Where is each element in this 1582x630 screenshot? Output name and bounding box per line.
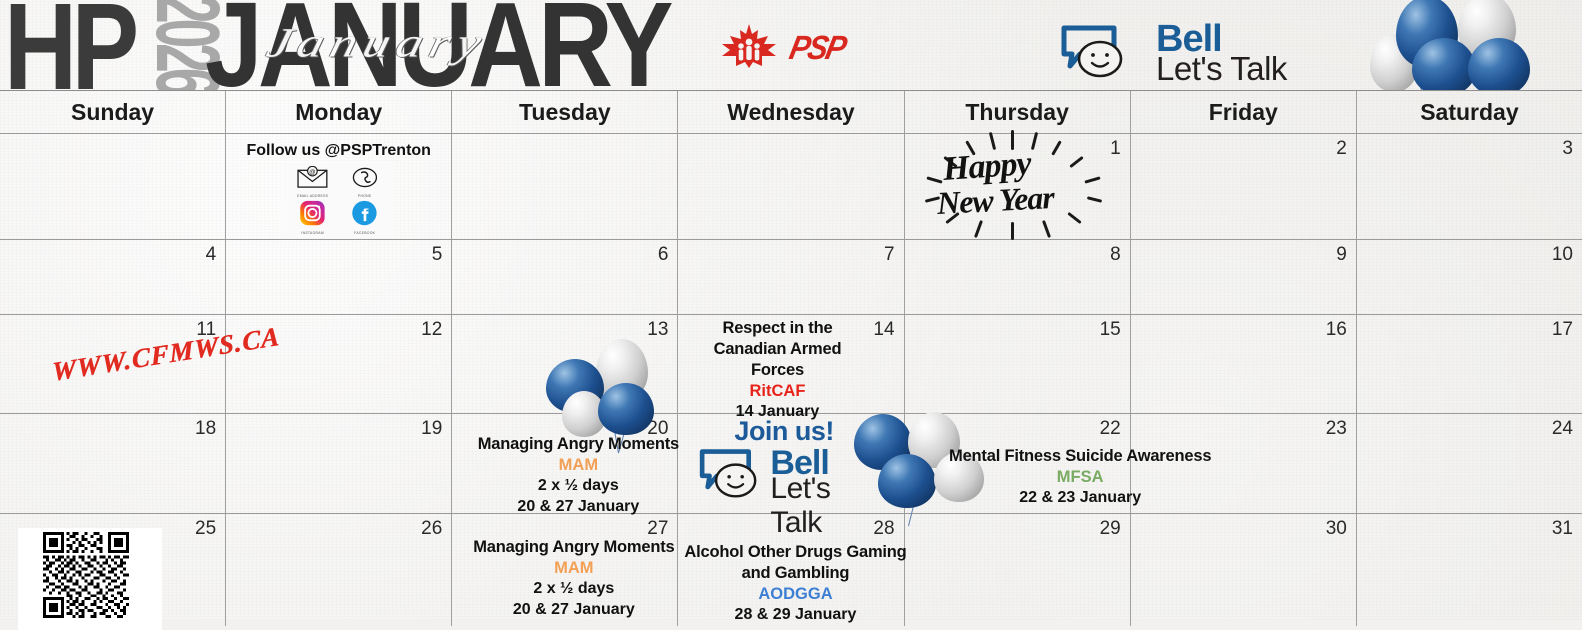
balloon-blue	[878, 454, 936, 508]
day-number: 17	[1552, 319, 1573, 341]
calendar-week-2: 4 5 6 7 8 9 10	[0, 240, 1582, 315]
event-mam-second-dates: 20 & 27 January	[473, 600, 674, 620]
day-cell-1[interactable]: 1 Happy New Year	[905, 134, 1131, 239]
day-cell-10[interactable]: 10	[1357, 240, 1582, 314]
weekday-header-wednesday: Wednesday	[678, 91, 904, 133]
speech-bubble-smiley-icon	[698, 446, 764, 500]
calendar-header: HP 2026 JANUARY January PSP Bell Let's T…	[0, 0, 1582, 90]
day-cell-21[interactable]: 21 Join us! Bell Let's Talk	[678, 414, 904, 513]
day-cell-27[interactable]: 27 Managing Angry Moments MAM 2 x ½ days…	[452, 514, 678, 626]
instagram-icon	[300, 200, 326, 226]
burst-ray	[1011, 222, 1014, 240]
event-ritcaf-code: RitCAF	[714, 381, 842, 402]
day-number: 26	[421, 518, 442, 540]
event-ritcaf-title-line3: Forces	[714, 360, 842, 381]
weekday-header-sunday: Sunday	[0, 91, 226, 133]
event-aodgga-title-line1: Alcohol Other Drugs Gaming	[684, 542, 906, 563]
day-number: 16	[1326, 319, 1347, 341]
day-cell-empty[interactable]	[0, 134, 226, 239]
social-icon-email-caption: EMAIL ADDRESS	[294, 194, 332, 198]
day-cell-31[interactable]: 31	[1357, 514, 1582, 626]
weekday-header-saturday: Saturday	[1357, 91, 1582, 133]
day-number: 14	[873, 319, 894, 341]
day-number: 18	[195, 418, 216, 440]
day-number: 23	[1326, 418, 1347, 440]
day-cell-11[interactable]: 11 WWW.CFMWS.CA	[0, 315, 226, 413]
event-aodgga-title-line2: and Gambling	[684, 563, 906, 584]
day-cell-empty[interactable]	[678, 134, 904, 239]
balloon-blue	[598, 383, 654, 435]
event-mam-second-title: Managing Angry Moments	[473, 537, 674, 558]
event-mam-second-duration: 2 x ½ days	[473, 579, 674, 599]
event-mfsa-title: Mental Fitness Suicide Awareness	[949, 446, 1211, 467]
burst-ray	[1042, 220, 1051, 238]
day-number: 5	[432, 244, 443, 266]
day-cell-empty[interactable]	[452, 134, 678, 239]
happy-new-year-graphic: Happy New Year	[895, 128, 1131, 240]
day-number: 25	[195, 518, 216, 540]
day-cell-14[interactable]: 14 Respect in the Canadian Armed Forces …	[678, 315, 904, 413]
social-icon-row-2: INSTAGRAM FACEBOOK	[289, 200, 389, 235]
join-us-label: Join us!	[734, 416, 834, 447]
calendar-week-3: 11 WWW.CFMWS.CA 12 13 14 Respect in the …	[0, 315, 1582, 414]
day-number: 9	[1336, 244, 1347, 266]
social-icon-email[interactable]: @ EMAIL ADDRESS	[294, 166, 332, 198]
event-mam-second-code: MAM	[473, 558, 674, 579]
social-icon-phone-caption: PHONE	[346, 194, 384, 198]
burst-ray	[1030, 132, 1037, 150]
day-cell-3[interactable]: 3	[1357, 134, 1582, 239]
day-number: 10	[1552, 244, 1573, 266]
day-cell-7[interactable]: 7	[678, 240, 904, 314]
day-number: 7	[884, 244, 895, 266]
weekday-header-row: Sunday Monday Tuesday Wednesday Thursday…	[0, 90, 1582, 134]
day-number: 30	[1326, 518, 1347, 540]
psp-logo: PSP	[718, 22, 888, 70]
qr-code-image	[22, 532, 150, 618]
day-number: 6	[658, 244, 669, 266]
event-mfsa-code: MFSA	[949, 467, 1211, 488]
email-icon: @	[297, 166, 329, 189]
day-cell-29[interactable]: 29	[905, 514, 1131, 626]
day-number: 2	[1336, 138, 1347, 160]
day-number: 19	[421, 418, 442, 440]
event-mam-first[interactable]: Managing Angry Moments MAM 2 x ½ days 20…	[478, 434, 679, 517]
day-cell-2[interactable]: 2	[1131, 134, 1357, 239]
follow-us-block: Follow us @PSPTrenton @ EMAIL ADDRESS	[226, 142, 451, 238]
social-icon-row-1: @ EMAIL ADDRESS PHONE	[289, 166, 389, 198]
day-cell-9[interactable]: 9	[1131, 240, 1357, 314]
day-number: 8	[1110, 244, 1121, 266]
event-aodgga[interactable]: Alcohol Other Drugs Gaming and Gambling …	[684, 542, 906, 626]
day-cell-6[interactable]: 6	[452, 240, 678, 314]
event-mam-second[interactable]: Managing Angry Moments MAM 2 x ½ days 20…	[473, 537, 674, 620]
bell-lets-talk-logo-header: Bell Let's Talk	[1060, 18, 1320, 80]
phone-icon	[351, 166, 378, 189]
day-number: 29	[1100, 518, 1121, 540]
header-org-abbrev: HP	[4, 0, 134, 90]
event-mam-first-duration: 2 x ½ days	[478, 476, 679, 496]
svg-text:@: @	[309, 169, 316, 176]
social-icon-facebook[interactable]: FACEBOOK	[346, 200, 384, 235]
social-icon-box: @ EMAIL ADDRESS PHONE	[283, 163, 395, 238]
day-cell-16[interactable]: 16	[1131, 315, 1357, 413]
weekday-header-monday: Monday	[226, 91, 452, 133]
burst-ray	[926, 176, 942, 183]
day-number: 15	[1100, 319, 1121, 341]
event-ritcaf-title-line2: Canadian Armed	[714, 339, 842, 360]
balloon-cluster-header	[1352, 0, 1582, 90]
event-mam-first-title: Managing Angry Moments	[478, 434, 679, 455]
event-aodgga-dates: 28 & 29 January	[684, 605, 906, 625]
social-icon-instagram-caption: INSTAGRAM	[294, 231, 332, 235]
event-ritcaf-title-line1: Respect in the	[714, 318, 842, 339]
event-mfsa-dates: 22 & 23 January	[949, 488, 1211, 508]
day-number: 12	[421, 319, 442, 341]
day-cell-8[interactable]: 8	[905, 240, 1131, 314]
day-cell-13[interactable]: 13	[452, 315, 678, 413]
join-us-bell-block[interactable]: Join us! Bell Let's Talk	[698, 416, 834, 447]
day-cell-18[interactable]: 18	[0, 414, 226, 513]
day-cell-5[interactable]: 5	[226, 240, 452, 314]
day-cell-25[interactable]: 25	[0, 514, 226, 626]
event-mam-first-dates: 20 & 27 January	[478, 497, 679, 517]
balloon-cluster-mid	[544, 333, 674, 443]
event-aodgga-code: AODGGA	[684, 584, 906, 605]
balloon-blue	[1468, 38, 1530, 90]
social-icon-instagram[interactable]: INSTAGRAM	[294, 200, 332, 235]
burst-ray	[974, 220, 983, 238]
speech-bubble-smiley-icon	[1060, 22, 1130, 80]
weekday-header-tuesday: Tuesday	[452, 91, 678, 133]
event-mfsa[interactable]: Mental Fitness Suicide Awareness MFSA 22…	[949, 446, 1211, 509]
day-number: 3	[1562, 138, 1573, 160]
burst-ray	[1084, 176, 1100, 183]
facebook-icon	[352, 200, 378, 226]
social-icon-phone[interactable]: PHONE	[346, 166, 384, 198]
day-cell-15[interactable]: 15	[905, 315, 1131, 413]
day-number: 31	[1552, 518, 1573, 540]
event-mam-first-code: MAM	[478, 455, 679, 476]
burst-ray	[1069, 156, 1083, 168]
day-number: 28	[873, 518, 894, 540]
calendar-grid: Sunday Monday Tuesday Wednesday Thursday…	[0, 90, 1582, 620]
day-cell-26[interactable]: 26	[226, 514, 452, 626]
header-month-script: January	[262, 20, 493, 67]
burst-ray	[1067, 212, 1081, 224]
day-cell-17[interactable]: 17	[1357, 315, 1582, 413]
day-number: 4	[206, 244, 217, 266]
day-cell-4[interactable]: 4	[0, 240, 226, 314]
burst-ray	[1086, 196, 1101, 203]
burst-ray	[1051, 140, 1062, 155]
calendar-week-4: 18 19 20 Managing Angry Moments MAM 2 x …	[0, 414, 1582, 514]
maple-leaf-people-icon	[718, 22, 780, 68]
bell-tagline: Let's Talk	[1156, 50, 1287, 88]
event-ritcaf[interactable]: Respect in the Canadian Armed Forces Rit…	[714, 318, 842, 423]
day-number: 22	[1100, 418, 1121, 440]
day-cell-social[interactable]: Follow us @PSPTrenton @ EMAIL ADDRESS	[226, 134, 452, 239]
day-cell-19[interactable]: 19	[226, 414, 452, 513]
qr-code[interactable]	[18, 528, 162, 630]
weekday-header-friday: Friday	[1131, 91, 1357, 133]
calendar-week-1: Follow us @PSPTrenton @ EMAIL ADDRESS	[0, 134, 1582, 240]
day-cell-24[interactable]: 24	[1357, 414, 1582, 513]
day-cell-30[interactable]: 30	[1131, 514, 1357, 626]
bell-tagline: Let's Talk	[770, 472, 834, 540]
day-number: 24	[1552, 418, 1573, 440]
psp-wordmark: PSP	[786, 30, 848, 68]
follow-us-title: Follow us @PSPTrenton	[226, 142, 451, 160]
social-icon-facebook-caption: FACEBOOK	[346, 231, 384, 235]
weekday-header-thursday: Thursday	[905, 91, 1131, 133]
happy-new-year-line2: New Year	[936, 179, 1055, 222]
